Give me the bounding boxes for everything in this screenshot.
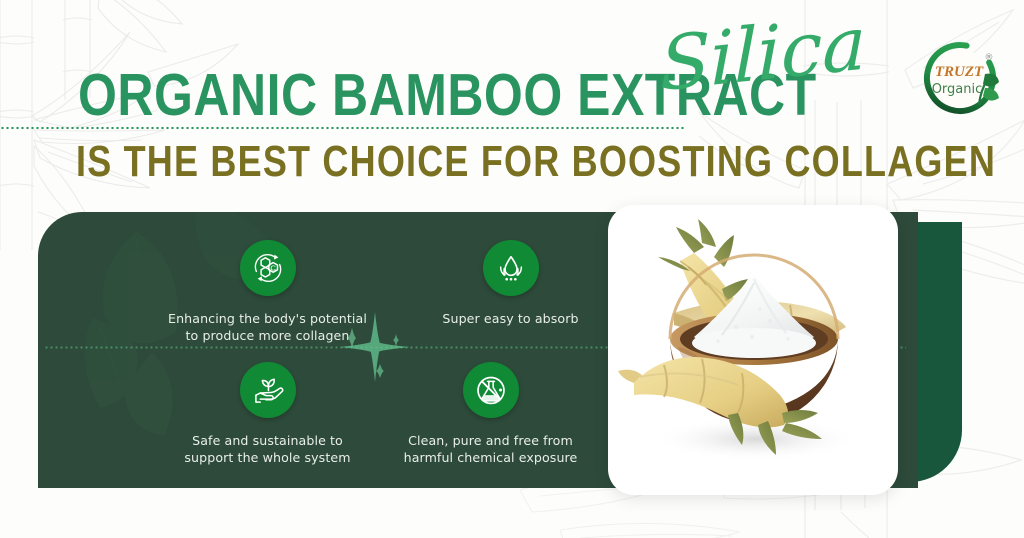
registered-mark-icon: ®	[985, 53, 994, 63]
feature-label: Clean, pure and free from harmful chemic…	[363, 432, 618, 466]
feature-item-clean[interactable]: Clean, pure and free from harmful chemic…	[363, 362, 618, 466]
feature-label: Super easy to absorb	[383, 310, 638, 327]
logo-brand-top: TRUZT	[935, 64, 984, 80]
feature-item-sustainable[interactable]: Safe and sustainable to support the whol…	[140, 362, 395, 466]
water-absorption-icon	[483, 240, 539, 296]
banner-header: ORGANIC BAMBOO EXTRACT Silica IS THE BES…	[0, 0, 1024, 195]
svg-text:C: C	[270, 264, 276, 273]
bamboo-silica-powder-bowl-image	[618, 217, 888, 485]
no-chemicals-flask-icon	[463, 362, 519, 418]
feature-label: Enhancing the body's potential to produc…	[140, 310, 395, 344]
brand-logo[interactable]: TRUZT Organic ®	[915, 32, 1005, 122]
banner-root: ORGANIC BAMBOO EXTRACT Silica IS THE BES…	[0, 0, 1024, 538]
features-list: C Enhancing the body's potential to prod…	[38, 212, 618, 488]
page-subtitle: IS THE BEST CHOICE FOR BOOSTING COLLAGEN	[76, 140, 996, 183]
title-dotted-rule	[0, 126, 685, 130]
feature-label: Safe and sustainable to support the whol…	[140, 432, 395, 466]
feature-item-collagen[interactable]: C Enhancing the body's potential to prod…	[140, 240, 395, 344]
hand-holding-leaf-icon	[240, 362, 296, 418]
feature-item-absorb[interactable]: Super easy to absorb	[383, 240, 638, 327]
logo-brand-bottom: Organic	[932, 82, 983, 97]
collagen-renewal-icon: C	[240, 240, 296, 296]
title-script-silica: Silica	[660, 6, 866, 102]
product-image-card[interactable]	[608, 205, 898, 495]
